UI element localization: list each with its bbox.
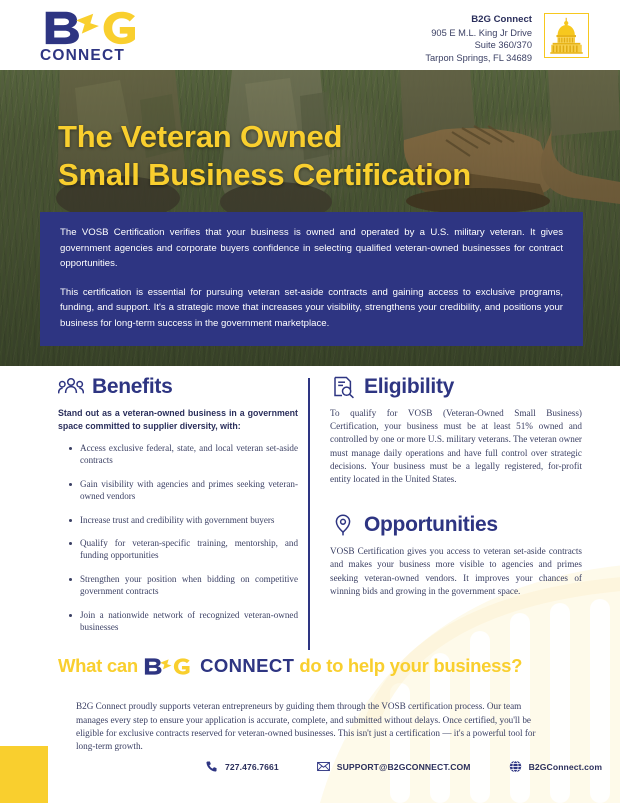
eligibility-text: To qualify for VOSB (Veteran-Owned Small… — [330, 407, 582, 486]
phone-icon — [205, 760, 218, 773]
list-item: Strengthen your position when bidding on… — [80, 573, 298, 598]
benefits-title: Benefits — [92, 375, 172, 399]
footer-phone-text: 727.476.7661 — [225, 762, 279, 772]
hero-title-line2: Small Business Certification — [58, 156, 471, 194]
intro-paragraph-2: This certification is essential for purs… — [60, 285, 563, 332]
eligibility-section: Eligibility To qualify for VOSB (Veteran… — [330, 374, 582, 486]
address-line2: Suite 360/370 — [425, 39, 532, 52]
list-item: Increase trust and credibility with gove… — [80, 514, 298, 526]
address-company: B2G Connect — [425, 14, 532, 27]
footer-website[interactable]: B2GConnect.com — [509, 760, 603, 773]
eligibility-title: Eligibility — [364, 375, 454, 399]
list-item: Join a nationwide network of recognized … — [80, 609, 298, 634]
cta-suffix: do to help your business? — [299, 655, 522, 677]
cta-prefix: What can — [58, 655, 138, 677]
footer-accent-bar — [0, 746, 48, 803]
b2g-logo-icon — [143, 657, 195, 676]
opportunities-text: VOSB Certification gives you access to v… — [330, 545, 582, 598]
opportunities-title: Opportunities — [364, 513, 498, 537]
benefits-header: Benefits — [58, 374, 298, 400]
list-item: Qualify for veteran-specific training, m… — [80, 537, 298, 562]
document-search-icon — [330, 374, 356, 400]
opportunities-header: Opportunities — [330, 512, 582, 538]
list-item: Gain visibility with agencies and primes… — [80, 478, 298, 503]
footer-email[interactable]: SUPPORT@B2GCONNECT.COM — [317, 760, 471, 773]
right-column: Eligibility To qualify for VOSB (Veteran… — [330, 374, 582, 598]
capitol-dome-badge — [544, 13, 589, 58]
globe-icon — [509, 760, 522, 773]
logo-wordmark: CONNECT — [40, 47, 160, 65]
address-line3: Tarpon Springs, FL 34689 — [425, 52, 532, 65]
hero-title-line1: The Veteran Owned — [58, 118, 471, 156]
header-address: B2G Connect 905 E M.L. King Jr Drive Sui… — [425, 14, 532, 64]
b2g-logo-icon — [40, 8, 154, 46]
benefits-lead: Stand out as a veteran-owned business in… — [58, 407, 298, 433]
footer-phone[interactable]: 727.476.7661 — [205, 760, 279, 773]
column-divider — [308, 378, 310, 650]
address-line1: 905 E M.L. King Jr Drive — [425, 27, 532, 40]
benefits-section: Benefits Stand out as a veteran-owned bu… — [58, 374, 298, 644]
intro-paragraph-1: The VOSB Certification verifies that you… — [60, 225, 563, 272]
capitol-dome-icon — [545, 14, 588, 57]
footer-email-text: SUPPORT@B2GCONNECT.COM — [337, 762, 471, 772]
opportunities-section: Opportunities VOSB Certification gives y… — [330, 512, 582, 598]
envelope-icon — [317, 760, 330, 773]
footer-contact-list: 727.476.7661 SUPPORT@B2GCONNECT.COM B2GC… — [205, 760, 602, 773]
benefits-list: Access exclusive federal, state, and loc… — [58, 442, 298, 633]
intro-box: The VOSB Certification verifies that you… — [40, 212, 583, 346]
page-footer: 727.476.7661 SUPPORT@B2GCONNECT.COM B2GC… — [0, 746, 620, 803]
cta-brand: CONNECT — [200, 655, 294, 677]
list-item: Access exclusive federal, state, and loc… — [80, 442, 298, 467]
footer-website-text: B2GConnect.com — [529, 762, 603, 772]
brand-logo[interactable]: CONNECT — [40, 8, 160, 65]
people-group-icon — [58, 374, 84, 400]
cta-headline: What can CONNECT do to help your busines… — [58, 655, 522, 677]
map-pin-icon — [330, 512, 356, 538]
eligibility-header: Eligibility — [330, 374, 582, 400]
page-header: CONNECT B2G Connect 905 E M.L. King Jr D… — [0, 0, 620, 70]
main-content: Benefits Stand out as a veteran-owned bu… — [0, 374, 620, 654]
hero-title: The Veteran Owned Small Business Certifi… — [58, 118, 471, 194]
